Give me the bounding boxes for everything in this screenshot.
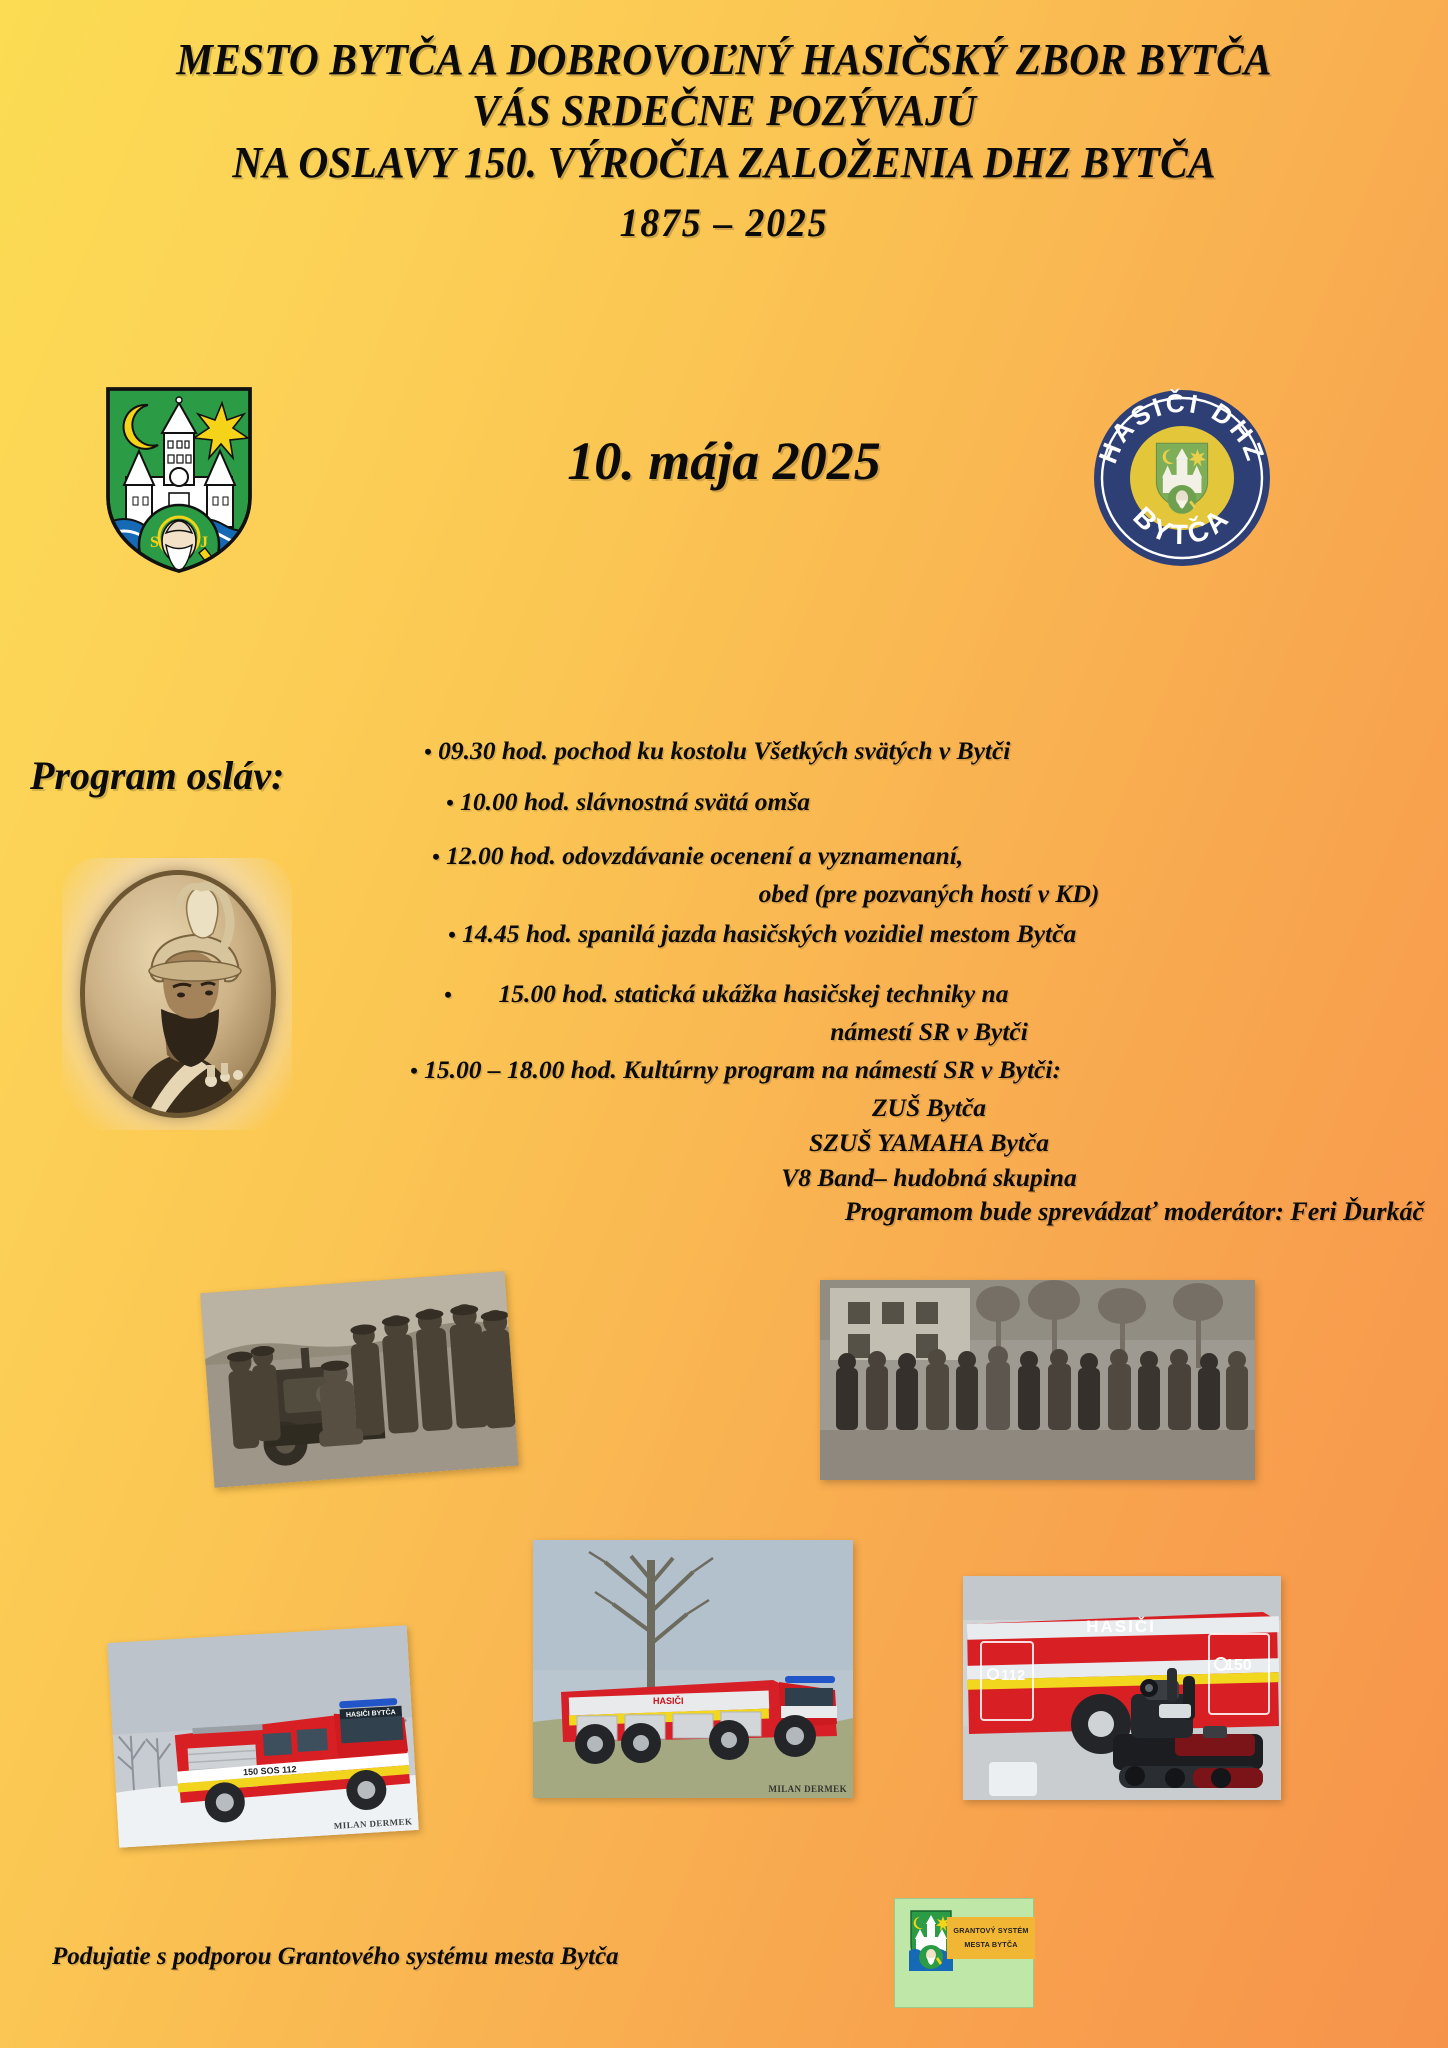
program-item: • 15.00 hod. statická ukážka hasičskej t… — [444, 979, 1434, 1009]
performer-item: SZUŠ YAMAHA Bytča — [424, 1128, 1434, 1158]
bullet-icon: • — [448, 922, 456, 947]
poster-headline: MESTO BYTČA A DOBROVOĽNÝ HASIČSKÝ ZBOR B… — [43, 34, 1404, 247]
grant-system-logo: GRANTOVÝ SYSTÉM MESTA BYTČA — [894, 1898, 1034, 2008]
historic-photo-firefighters-with-engine — [200, 1271, 518, 1488]
program-item-sub: námestí SR v Bytči — [424, 1017, 1434, 1047]
svg-text:HASIČI: HASIČI — [1086, 1617, 1156, 1636]
photo-large-fire-truck: HASIČI MILAN DERMEK — [533, 1540, 853, 1798]
grant-logo-band: GRANTOVÝ SYSTÉM MESTA BYTČA — [947, 1917, 1035, 1959]
moderator-note: Programom bude sprevádzať moderátor: Fer… — [0, 1197, 1424, 1227]
svg-text:112: 112 — [1001, 1667, 1025, 1684]
program-item: • 12.00 hod. odovzdávanie ocenení a vyzn… — [432, 841, 1434, 871]
bullet-icon: • — [410, 1058, 418, 1083]
bullet-icon: • — [432, 844, 440, 869]
bullet-icon: • — [446, 790, 454, 815]
program-item-sub: obed (pre pozvaných hostí v KD) — [424, 879, 1434, 909]
program-item: • 09.30 hod. pochod ku kostolu Všetkých … — [424, 736, 1434, 766]
program-list: • 09.30 hod. pochod ku kostolu Všetkých … — [424, 736, 1434, 1193]
program-item-text: 12.00 hod. odovzdávanie ocenení a vyznam… — [446, 841, 963, 870]
grant-logo-line-1: GRANTOVÝ SYSTÉM — [953, 1924, 1028, 1938]
photo-fire-truck-with-robot: 112 150 HASIČI — [963, 1576, 1281, 1800]
svg-text:S: S — [150, 534, 159, 551]
historic-portrait-frame — [62, 858, 292, 1130]
program-title: Program osláv: — [30, 752, 284, 799]
photo-fire-truck-hasici-bytca: HASIČI BYTČA 150 SOS 112 MILAN DERMEK — [107, 1625, 419, 1847]
footer-support-text: Podujatie s podporou Grantového systému … — [52, 1943, 619, 1971]
headline-line-2: VÁS SRDEČNE POZÝVAJÚ — [43, 85, 1404, 136]
grant-logo-line-2: MESTA BYTČA — [964, 1938, 1017, 1952]
svg-text:150: 150 — [1225, 1657, 1252, 1674]
program-item: • 10.00 hod. slávnostná svätá omša — [446, 787, 1434, 817]
bullet-icon: • — [444, 982, 452, 1007]
headline-line-3: NA OSLAVY 150. VÝROČIA ZALOŽENIA DHZ BYT… — [43, 137, 1404, 188]
program-item-text: 14.45 hod. spanilá jazda hasičských vozi… — [462, 919, 1076, 948]
bullet-icon: • — [424, 739, 432, 764]
historic-photo-firefighter-lineup — [820, 1280, 1255, 1480]
headline-line-1: MESTO BYTČA A DOBROVOĽNÝ HASIČSKÝ ZBOR B… — [43, 34, 1404, 85]
program-item: • 15.00 – 18.00 hod. Kultúrny program na… — [410, 1055, 1434, 1085]
svg-text:HASIČI: HASIČI — [653, 1695, 684, 1706]
program-item-text: 09.30 hod. pochod ku kostolu Všetkých sv… — [438, 736, 1010, 765]
performer-item: ZUŠ Bytča — [424, 1093, 1434, 1123]
photo-credit: MILAN DERMEK — [768, 1784, 847, 1794]
historic-firefighter-portrait — [80, 870, 276, 1118]
program-item-text: 15.00 – 18.00 hod. Kultúrny program na n… — [424, 1055, 1061, 1084]
program-item: • 14.45 hod. spanilá jazda hasičských vo… — [448, 919, 1434, 949]
program-item-text: 15.00 hod. statická ukážka hasičskej tec… — [498, 979, 1008, 1008]
headline-years: 1875 – 2025 — [43, 200, 1404, 247]
dhz-bytca-badge-icon: HASIČI DHZ BYTČA — [1092, 388, 1272, 568]
performer-item: V8 Band– hudobná skupina — [424, 1163, 1434, 1193]
program-item-text: 10.00 hod. slávnostná svätá omša — [460, 787, 810, 816]
